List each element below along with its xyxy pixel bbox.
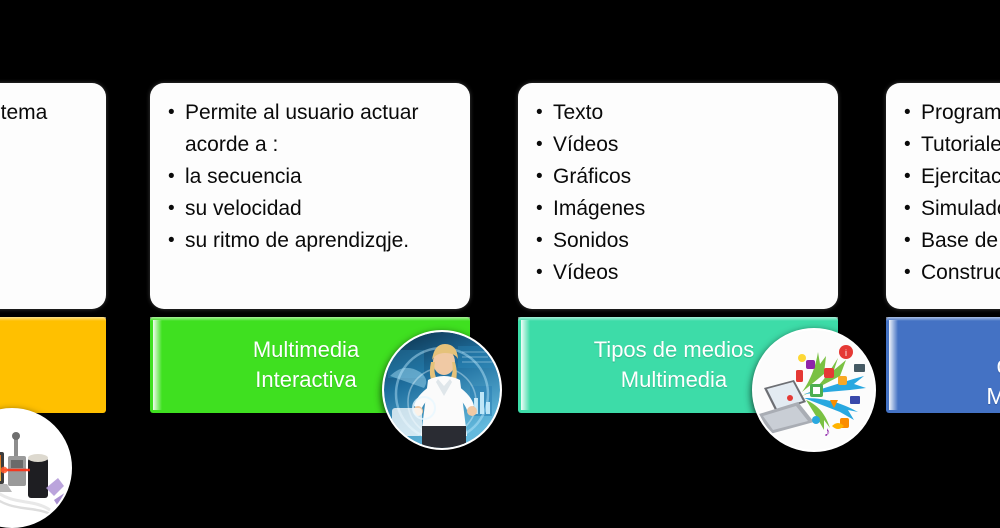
card-1-body: sistema [0, 83, 106, 309]
card-4-banner[interactable]: Material didáctico Multimedia [886, 317, 1000, 413]
card-3-banner-line-2: Multimedia [621, 367, 727, 392]
list-item: Gráficos [536, 161, 828, 193]
list-item: Permite al usuario actuar acorde a : [168, 97, 460, 161]
card-3-banner-line-1: Tipos de medios [594, 337, 755, 362]
list-item: Imágenes [536, 193, 828, 225]
svg-text:i: i [845, 348, 847, 358]
slide-canvas: sistema [0, 0, 1000, 525]
list-item: Simuladores [904, 193, 1000, 225]
svg-text:♫: ♫ [858, 419, 869, 435]
card-2-banner-line-1: Multimedia [253, 337, 359, 362]
laboratory-equipment-photo [0, 408, 72, 528]
woman-touchscreen-interface-photo [382, 330, 502, 450]
card-3-banner-label: Tipos de medios Multimedia [594, 335, 755, 395]
list-item: Programas [904, 97, 1000, 129]
list-item: Base de datos [904, 225, 1000, 257]
card-4-banner-line-2: didáctico [997, 352, 1000, 378]
content-card-1[interactable]: sistema [0, 83, 106, 430]
card-4-banner-label: Material didáctico Multimedia [986, 319, 1000, 412]
card-2-banner-label: Multimedia Interactiva [253, 335, 359, 395]
list-item: sistema [0, 97, 96, 129]
card-4-body: Programas Tutoriales Ejercitación Simula… [886, 83, 1000, 309]
list-item: su ritmo de aprendizqje. [168, 225, 460, 257]
content-card-2[interactable]: Permite al usuario actuar acorde a : la … [150, 83, 470, 430]
card-1-banner[interactable] [0, 317, 106, 413]
list-item: Texto [536, 97, 828, 129]
laptop-multimedia-icons-photo: i ♫ ♪ [752, 328, 876, 452]
card-2-banner-line-2: Interactiva [255, 367, 357, 392]
list-item: Constructores [904, 257, 1000, 289]
content-card-4[interactable]: Programas Tutoriales Ejercitación Simula… [886, 83, 1000, 430]
card-3-bullet-list: Texto Vídeos Gráficos Imágenes Sonidos V… [518, 83, 838, 299]
list-item: Sonidos [536, 225, 828, 257]
list-item: la secuencia [168, 161, 460, 193]
card-3-body: Texto Vídeos Gráficos Imágenes Sonidos V… [518, 83, 838, 309]
list-item: su velocidad [168, 193, 460, 225]
card-2-bullet-list: Permite al usuario actuar acorde a : la … [150, 83, 470, 267]
card-4-bullet-list: Programas Tutoriales Ejercitación Simula… [886, 83, 1000, 299]
content-card-3[interactable]: Texto Vídeos Gráficos Imágenes Sonidos V… [518, 83, 838, 430]
list-item: Vídeos [536, 257, 828, 289]
list-item: Tutoriales [904, 129, 1000, 161]
card-1-bullet-list: sistema [0, 83, 106, 139]
card-4-banner-line-3: Multimedia [986, 383, 1000, 409]
list-item: Vídeos [536, 129, 828, 161]
card-2-body: Permite al usuario actuar acorde a : la … [150, 83, 470, 309]
list-item: Ejercitación [904, 161, 1000, 193]
svg-text:♪: ♪ [824, 424, 831, 439]
